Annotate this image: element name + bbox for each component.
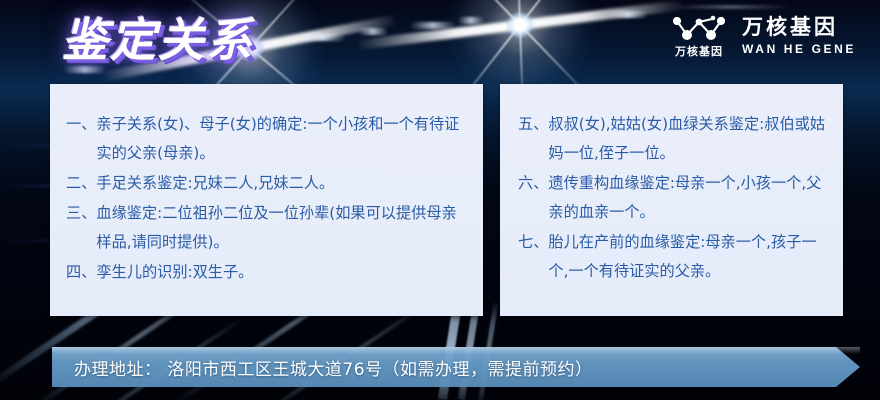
list-item-number: 三、: [66, 199, 96, 228]
dna-molecule-icon: [672, 14, 726, 44]
list-item-text: 胎儿在产前的血缘鉴定:母亲一个,孩子一个,一个有待证实的父亲。: [548, 228, 831, 286]
list-item-number: 六、: [518, 169, 548, 198]
services-panel-left: 一、亲子关系(女)、母子(女)的确定:一个小孩和一个有待证实的父亲(母亲)。二、…: [50, 84, 483, 316]
logo-mark: 万核基因: [672, 14, 726, 58]
brand-logo: 万核基因 万核基因 WAN HE GENE: [672, 14, 856, 58]
list-item-text: 遗传重构血缘鉴定:母亲一个,小孩一个,父亲的血亲一个。: [548, 169, 831, 227]
brand-name-cn: 万核基因: [742, 16, 856, 40]
list-item-text: 孪生儿的识别:双生子。: [96, 258, 469, 287]
logo-mark-label: 万核基因: [675, 46, 723, 58]
list-item: 六、遗传重构血缘鉴定:母亲一个,小孩一个,父亲的血亲一个。: [518, 169, 831, 227]
list-item-number: 七、: [518, 228, 548, 257]
list-item: 三、血缘鉴定:二位祖孙二位及一位孙辈(如果可以提供母亲样品,请同时提供)。: [66, 199, 469, 257]
list-item: 五、叔叔(女),姑姑(女)血绿关系鉴定:叔伯或姑妈一位,侄子一位。: [518, 110, 831, 168]
service-list-left: 一、亲子关系(女)、母子(女)的确定:一个小孩和一个有待证实的父亲(母亲)。二、…: [50, 84, 483, 287]
brand-wordmark: 万核基因 WAN HE GENE: [742, 16, 856, 56]
address-banner: 办理地址： 洛阳市西工区王城大道76号（如需办理，需提前预约）: [52, 347, 860, 387]
list-item: 四、孪生儿的识别:双生子。: [66, 258, 469, 287]
page-title: 鉴定关系: [62, 14, 254, 66]
list-item-text: 亲子关系(女)、母子(女)的确定:一个小孩和一个有待证实的父亲(母亲)。: [96, 110, 469, 168]
list-item-number: 二、: [66, 169, 96, 198]
services-panel-right: 五、叔叔(女),姑姑(女)血绿关系鉴定:叔伯或姑妈一位,侄子一位。六、遗传重构血…: [500, 84, 843, 316]
brand-name-en: WAN HE GENE: [742, 42, 856, 56]
list-item: 二、手足关系鉴定:兄妹二人,兄妹二人。: [66, 169, 469, 198]
address-banner-text: 办理地址： 洛阳市西工区王城大道76号（如需办理，需提前预约）: [52, 355, 593, 380]
list-item-text: 血缘鉴定:二位祖孙二位及一位孙辈(如果可以提供母亲样品,请同时提供)。: [96, 199, 469, 257]
poster-canvas: 鉴定关系 万核基因: [0, 0, 880, 400]
list-item-text: 手足关系鉴定:兄妹二人,兄妹二人。: [96, 169, 469, 198]
list-item-number: 四、: [66, 258, 96, 287]
list-item-number: 五、: [518, 110, 548, 139]
list-item-number: 一、: [66, 110, 96, 139]
list-item: 一、亲子关系(女)、母子(女)的确定:一个小孩和一个有待证实的父亲(母亲)。: [66, 110, 469, 168]
list-item-text: 叔叔(女),姑姑(女)血绿关系鉴定:叔伯或姑妈一位,侄子一位。: [548, 110, 831, 168]
list-item: 七、胎儿在产前的血缘鉴定:母亲一个,孩子一个,一个有待证实的父亲。: [518, 228, 831, 286]
service-list-right: 五、叔叔(女),姑姑(女)血绿关系鉴定:叔伯或姑妈一位,侄子一位。六、遗传重构血…: [500, 84, 843, 286]
